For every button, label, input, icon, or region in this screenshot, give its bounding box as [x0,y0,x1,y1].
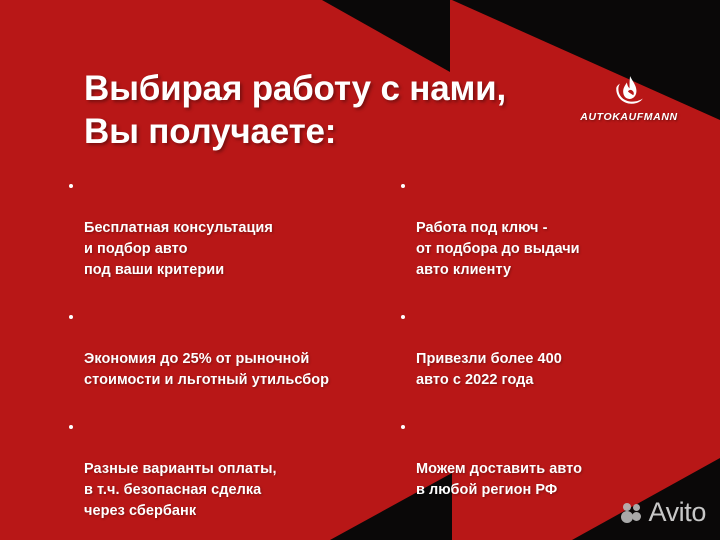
list-item-text: Бесплатная консультация и подбор авто по… [84,220,273,278]
bullet-dot-icon [69,184,73,188]
benefits-right-column: Работа под ключ - от подбора до выдачи а… [400,176,700,527]
avito-dots-icon [621,502,643,524]
list-item: Работа под ключ - от подбора до выдачи а… [400,176,700,281]
list-item: Привезли более 400 авто с 2022 года [400,307,700,391]
benefits-left-column: Бесплатная консультация и подбор авто по… [68,176,398,540]
list-item-text: Экономия до 25% от рыночной стоимости и … [84,351,329,388]
list-item: Экономия до 25% от рыночной стоимости и … [68,307,398,391]
avito-watermark: Avito [621,499,706,526]
bullet-dot-icon [401,184,405,188]
bullet-dot-icon [69,425,73,429]
benefits-columns: Бесплатная консультация и подбор авто по… [0,176,720,506]
list-item-text: Разные варианты оплаты, в т.ч. безопасна… [84,461,277,519]
list-item-text: Работа под ключ - от подбора до выдачи а… [416,220,580,278]
promo-poster: Выбирая работу с нами, Вы получаете: AUT… [0,0,720,540]
flame-swoosh-logo-icon [612,74,646,108]
brand-logo: AUTOKAUFMANN [575,74,683,123]
list-item: Бесплатная консультация и подбор авто по… [68,176,398,281]
list-item-text: Привезли более 400 авто с 2022 года [416,351,562,388]
bullet-dot-icon [69,315,73,319]
brand-name: AUTOKAUFMANN [575,111,683,123]
list-item: Можем доставить авто в любой регион РФ [400,417,700,501]
bullet-dot-icon [401,315,405,319]
avito-wordmark: Avito [648,499,706,526]
list-item-text: Можем доставить авто в любой регион РФ [416,461,582,498]
bullet-dot-icon [401,425,405,429]
list-item: Разные варианты оплаты, в т.ч. безопасна… [68,417,398,522]
page-title: Выбирая работу с нами, Вы получаете: [84,68,584,153]
